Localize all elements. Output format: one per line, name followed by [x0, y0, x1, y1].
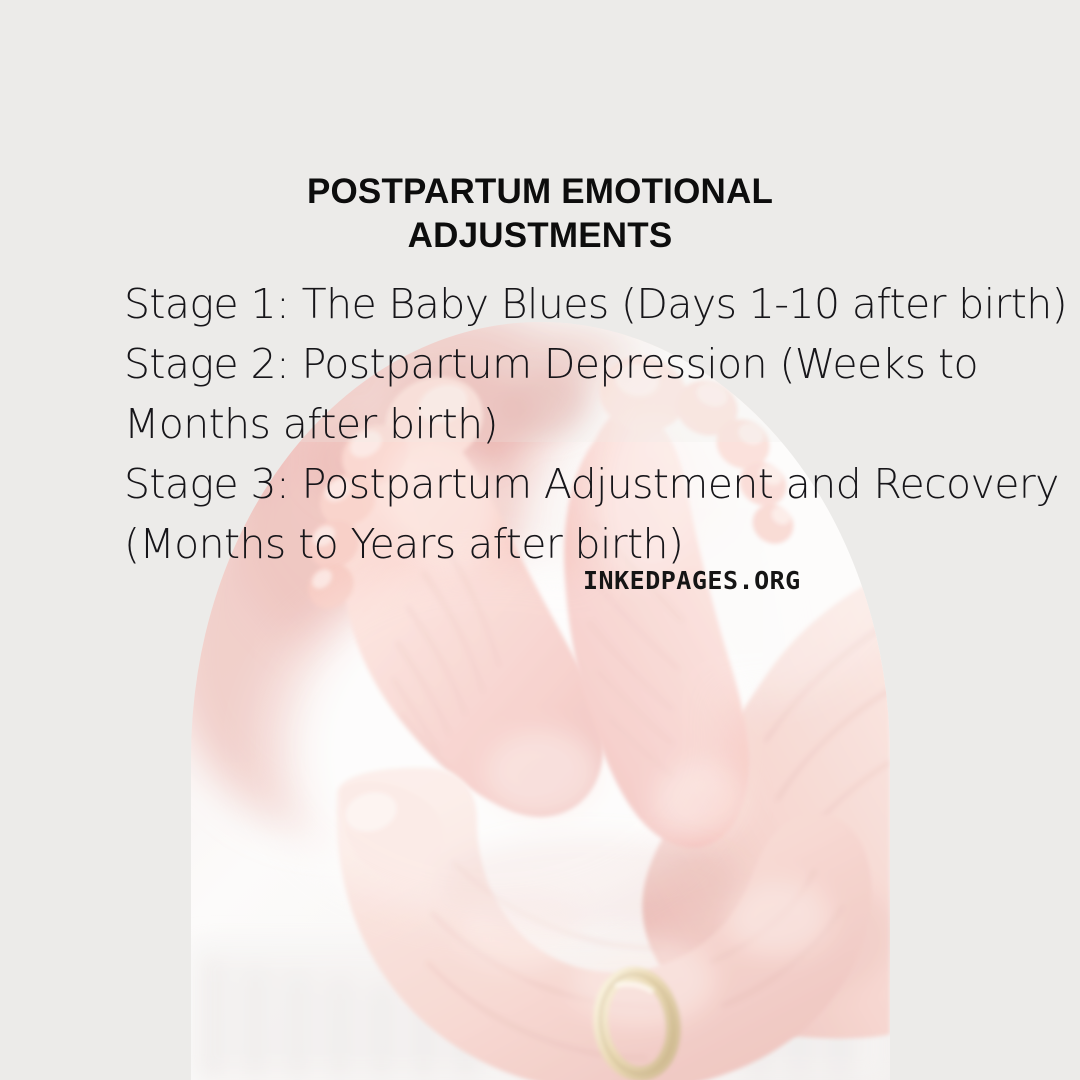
stage-line-5: (Months to Years after birth) — [124, 514, 1004, 574]
title-line-1: POSTPARTUM EMOTIONAL — [0, 170, 1080, 214]
title-line-2: ADJUSTMENTS — [0, 214, 1080, 258]
stage-line-3: Months after birth) — [124, 394, 1004, 454]
site-watermark: INKEDPAGES.ORG — [583, 566, 801, 595]
stage-line-1: Stage 1: The Baby Blues (Days 1-10 after… — [124, 274, 1004, 334]
stage-list: Stage 1: The Baby Blues (Days 1-10 after… — [124, 274, 1004, 574]
stage-line-4: Stage 3: Postpartum Adjustment and Recov… — [124, 454, 1004, 514]
poster-canvas: POSTPARTUM EMOTIONAL ADJUSTMENTS Stage 1… — [0, 0, 1080, 1080]
stage-line-2: Stage 2: Postpartum Depression (Weeks to — [124, 334, 1004, 394]
page-title: POSTPARTUM EMOTIONAL ADJUSTMENTS — [0, 170, 1080, 258]
